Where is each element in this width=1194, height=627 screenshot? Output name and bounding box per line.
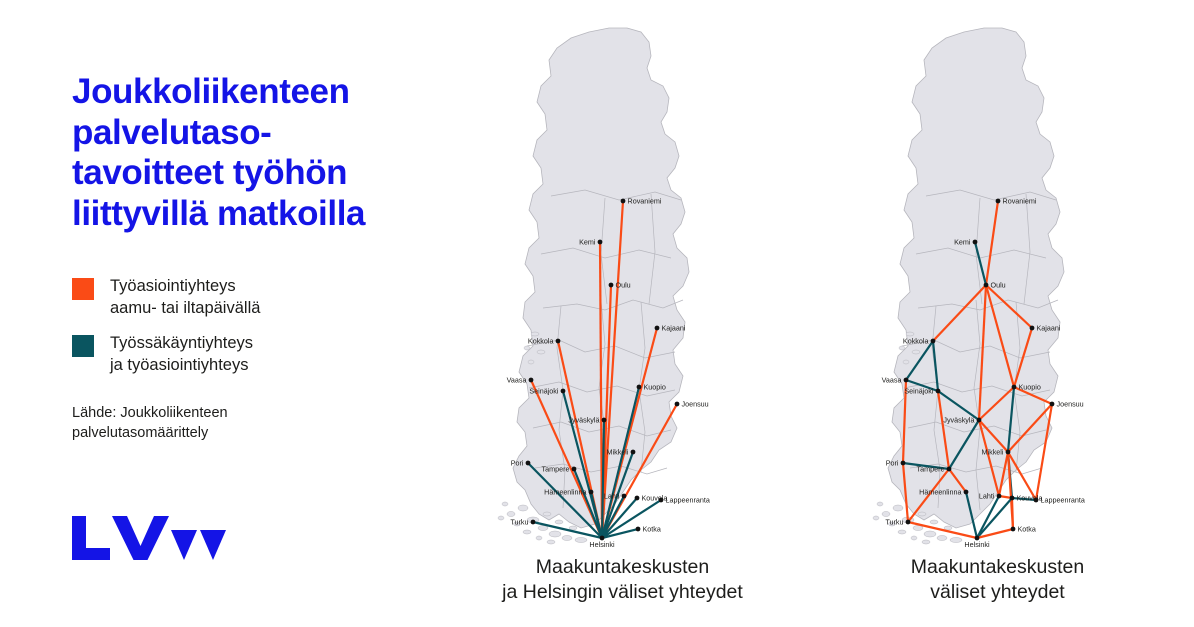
city-label: Kotka [643, 524, 661, 533]
finland-shape [888, 28, 1064, 528]
legend-swatch-teal [72, 335, 94, 357]
city-dot [1006, 450, 1011, 455]
city-dot [1050, 402, 1055, 407]
city-label: Pori [886, 458, 899, 467]
city-dot [904, 378, 909, 383]
city-label: Turku [885, 517, 903, 526]
finland-basemap [498, 23, 699, 544]
city-label: Lappeenranta [1041, 495, 1085, 504]
legend-item-label: Työasiointiyhteys aamu- tai iltapäivällä [110, 276, 260, 320]
city-dot [997, 494, 1002, 499]
city-label: Kouvola [642, 493, 668, 502]
city-label: Oulu [991, 280, 1006, 289]
city-dot [1011, 527, 1016, 532]
city-label: Kokkola [903, 336, 929, 345]
page-title: Joukkoliikenteen palvelutaso- tavoitteet… [72, 72, 452, 234]
city-label: Lappeenranta [666, 495, 710, 504]
city-dot [675, 402, 680, 407]
map-helsinki-connections: RovaniemiKemiOuluKajaaniKokkolaVaasaSein… [455, 8, 790, 553]
city-dot [526, 461, 531, 466]
legend-item-label: Työssäkäyntiyhteys ja työasiointiyhteys [110, 333, 253, 377]
infographic-root: Joukkoliikenteen palvelutaso- tavoitteet… [0, 0, 1194, 627]
map-panel-intercity: RovaniemiKemiOuluKajaaniKokkolaVaasaSein… [830, 8, 1165, 606]
city-dot [1010, 496, 1015, 501]
city-dot [561, 389, 566, 394]
city-dot [973, 240, 978, 245]
city-label: Tampere [542, 464, 570, 473]
city-dot [631, 450, 636, 455]
city-dot [964, 490, 969, 495]
city-label: Rovaniemi [628, 196, 662, 205]
city-dot [621, 199, 626, 204]
lvm-logo [72, 516, 232, 560]
city-dot [931, 339, 936, 344]
city-dot [602, 418, 607, 423]
city-dot [609, 283, 614, 288]
city-dot [531, 520, 536, 525]
city-dot [589, 490, 594, 495]
city-label: Jyväskylä [943, 415, 974, 424]
city-dot [635, 496, 640, 501]
city-label: Vaasa [882, 375, 902, 384]
city-label: Lahti [979, 491, 995, 500]
city-label: Rovaniemi [1003, 196, 1037, 205]
city-label: Kajaani [662, 323, 686, 332]
left-panel: Joukkoliikenteen palvelutaso- tavoitteet… [72, 72, 452, 592]
city-label: Seinäjoki [904, 386, 934, 395]
city-label: Kajaani [1037, 323, 1061, 332]
city-dot [906, 520, 911, 525]
legend: Työasiointiyhteys aamu- tai iltapäivällä… [72, 276, 452, 377]
city-label: Turku [510, 517, 528, 526]
city-label: Jyväskylä [568, 415, 599, 424]
city-label: Hämeenlinna [919, 487, 961, 496]
city-dot [529, 378, 534, 383]
city-label: Seinäjoki [529, 386, 559, 395]
city-dot [598, 240, 603, 245]
city-dot [977, 418, 982, 423]
city-label: Mikkeli [607, 447, 629, 456]
map-caption: Maakuntakeskusten väliset yhteydet [830, 555, 1165, 606]
city-label: Hämeenlinna [544, 487, 586, 496]
city-dot [636, 527, 641, 532]
city-dot [1012, 385, 1017, 390]
city-dot [556, 339, 561, 344]
city-dot [947, 467, 952, 472]
finland-basemap [873, 28, 1064, 544]
city-dot [1030, 326, 1035, 331]
city-label: Joensuu [682, 399, 709, 408]
legend-item-tyoasiointiyhteys: Työasiointiyhteys aamu- tai iltapäivällä [72, 276, 452, 320]
city-label: Mikkeli [982, 447, 1004, 456]
city-dot [936, 389, 941, 394]
map-intercity-connections: RovaniemiKemiOuluKajaaniKokkolaVaasaSein… [830, 8, 1165, 553]
city-dot [996, 199, 1001, 204]
city-dot [637, 385, 642, 390]
city-dot [622, 494, 627, 499]
city-label: Oulu [616, 280, 631, 289]
city-label: Kouvola [1017, 493, 1043, 502]
city-dot [572, 467, 577, 472]
city-label: Kuopio [1019, 382, 1041, 391]
city-dot [901, 461, 906, 466]
city-dot [655, 326, 660, 331]
city-label: Kemi [954, 237, 971, 246]
city-dot [984, 283, 989, 288]
legend-item-tyossakayntiyhteys: Työssäkäyntiyhteys ja työasiointiyhteys [72, 333, 452, 377]
city-label: Joensuu [1057, 399, 1084, 408]
connection-line [1012, 498, 1013, 529]
source-note: Lähde: Joukkoliikenteen palvelutasomääri… [72, 403, 452, 443]
legend-swatch-orange [72, 278, 94, 300]
city-label: Kokkola [528, 336, 554, 345]
map-caption: Maakuntakeskusten ja Helsingin väliset y… [455, 555, 790, 606]
city-label: Kotka [1018, 524, 1036, 533]
city-label: Kuopio [644, 382, 666, 391]
city-label: Helsinki [964, 540, 990, 549]
city-label: Tampere [917, 464, 945, 473]
map-panel-helsinki: RovaniemiKemiOuluKajaaniKokkolaVaasaSein… [455, 8, 790, 606]
city-label: Pori [511, 458, 524, 467]
city-label: Lahti [604, 491, 620, 500]
city-label: Helsinki [589, 540, 615, 549]
city-label: Vaasa [507, 375, 527, 384]
city-label: Kemi [579, 237, 596, 246]
